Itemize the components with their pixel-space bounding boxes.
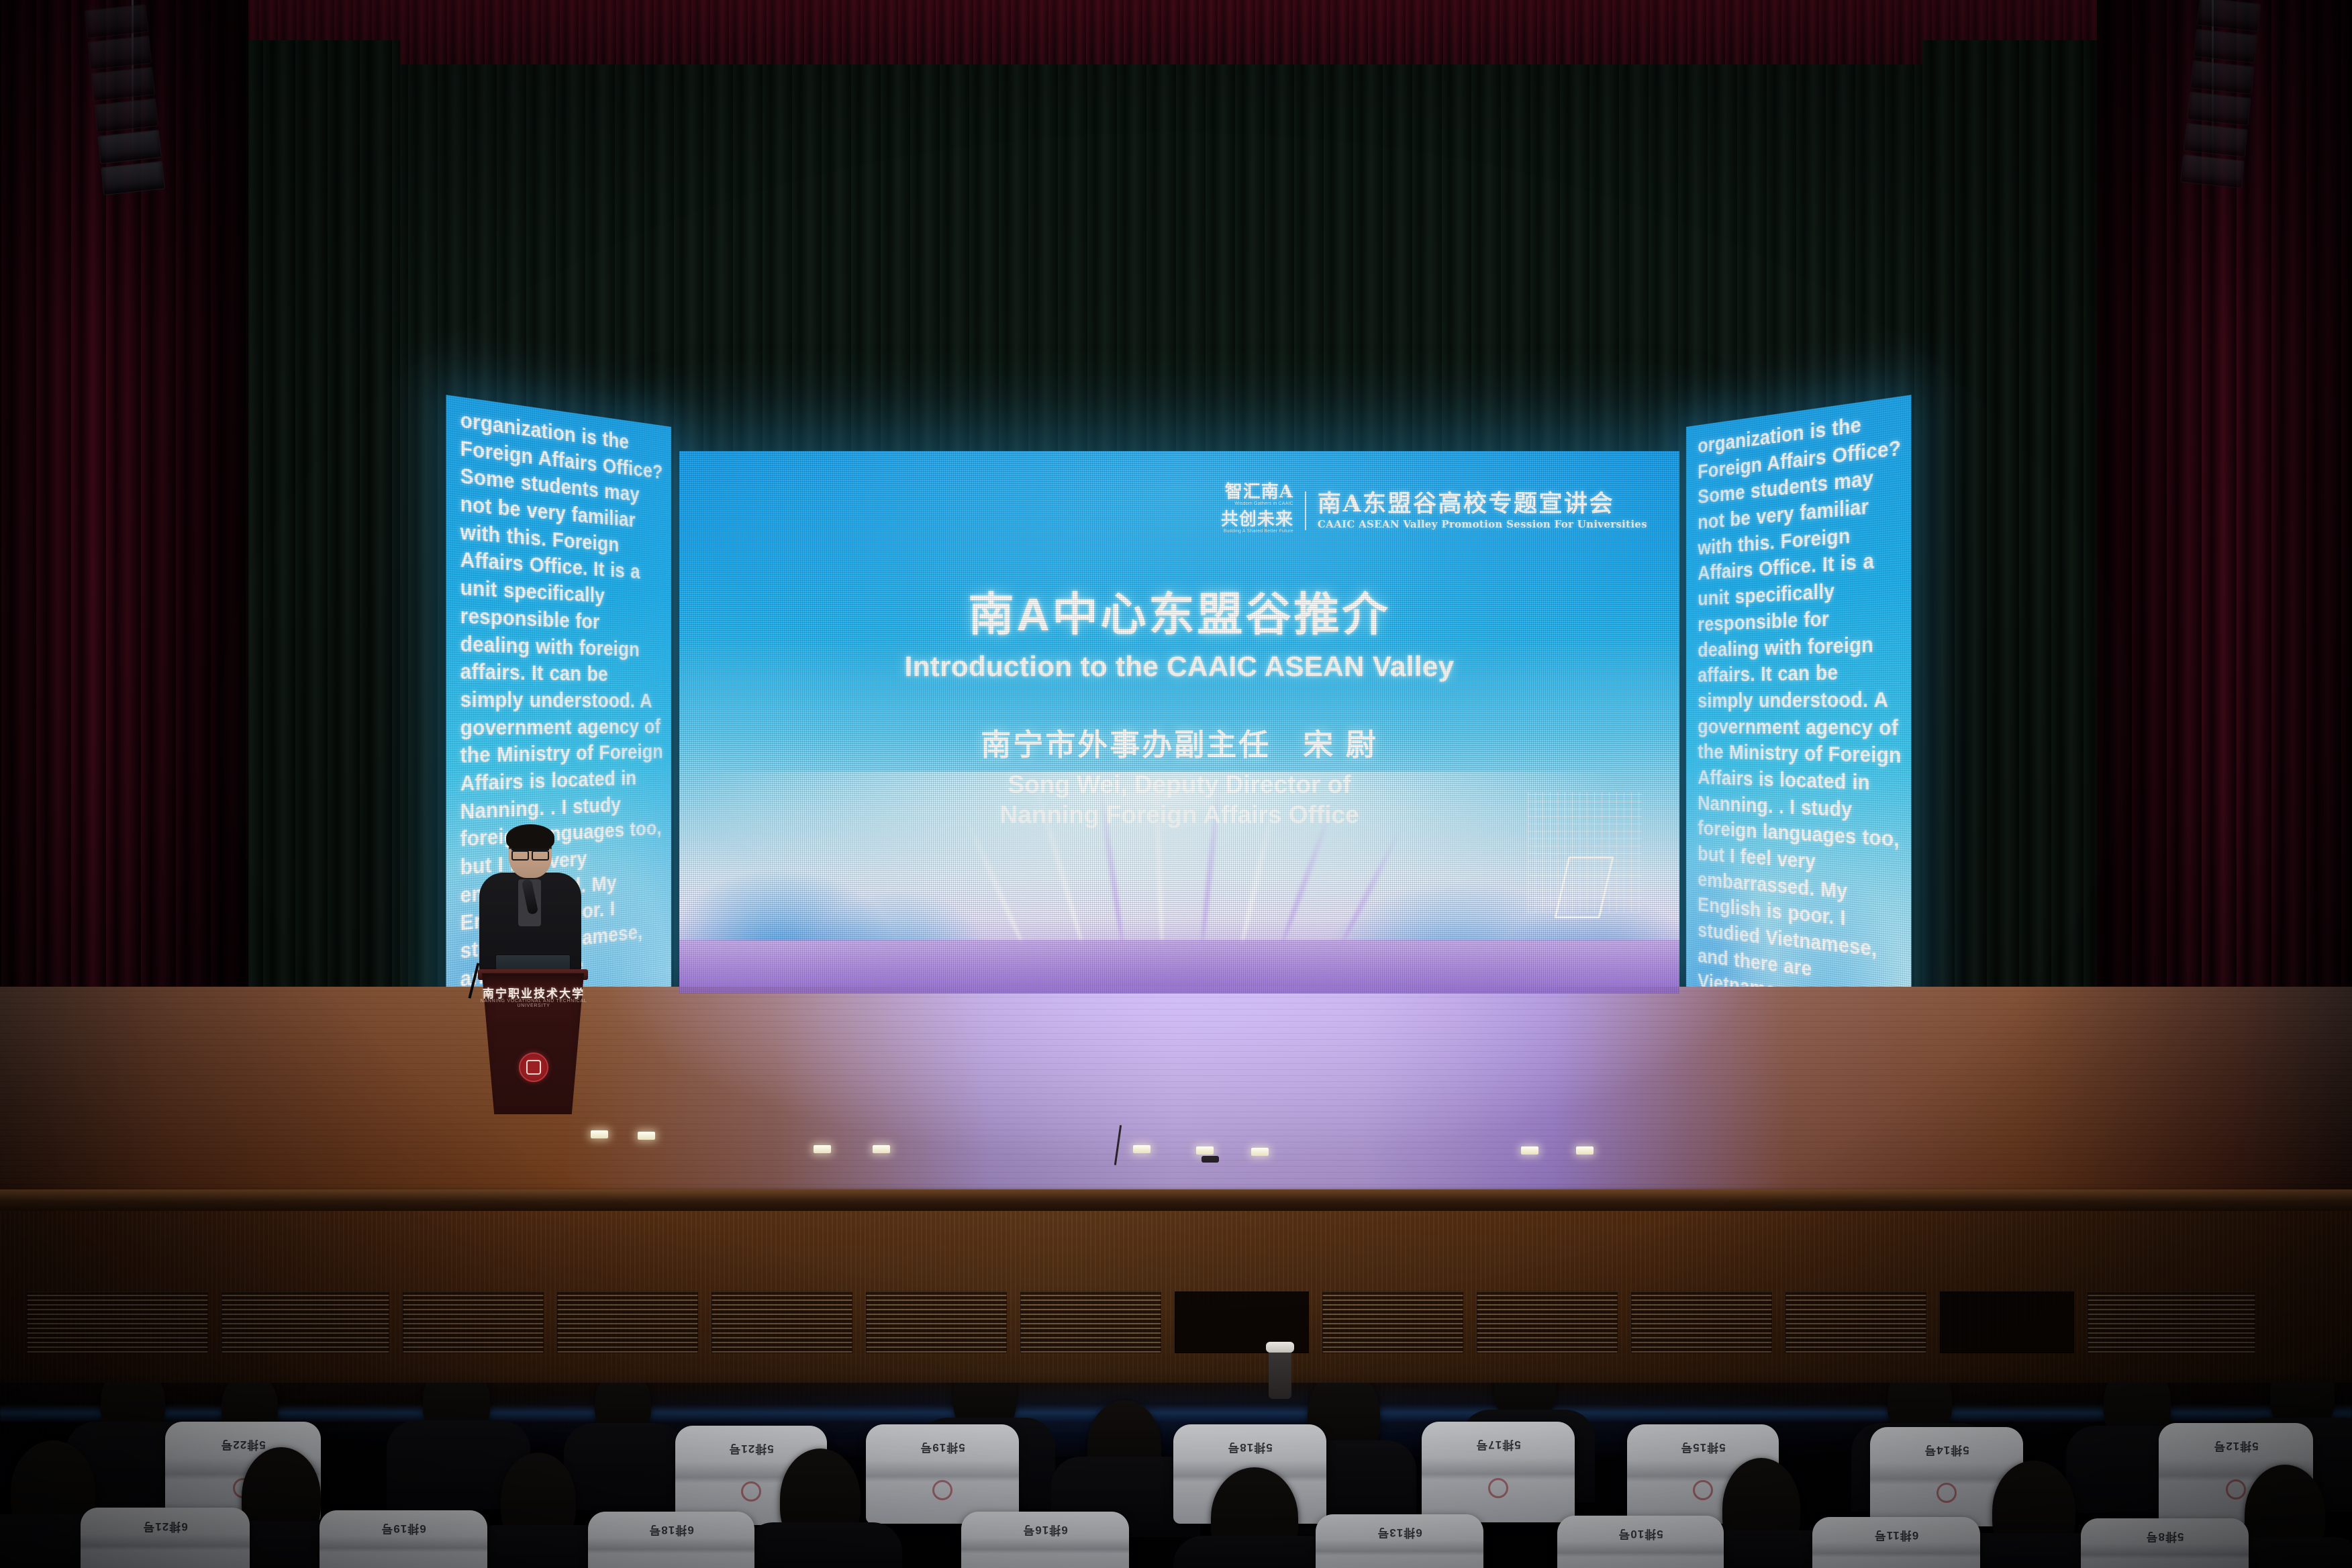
seat[interactable]: 6排18号	[588, 1512, 754, 1568]
logo-line2-cn: 共创未来	[1221, 511, 1293, 528]
seat-label: 5排17号	[1422, 1438, 1575, 1455]
seat[interactable]: 6排21号	[81, 1508, 250, 1568]
floor-light-9	[638, 1132, 655, 1140]
podium-and-speaker: 南宁职业技术大学 NANNING VOCATIONAL AND TECHNICA…	[470, 831, 597, 1113]
floor-light-6	[1521, 1146, 1538, 1155]
slide-header: 智汇南A Wisdom Gathers in CAAIC 共创未来 Buildi…	[1221, 483, 1647, 538]
seat[interactable]: 5排19号	[866, 1424, 1019, 1524]
floor-light-2	[873, 1145, 890, 1153]
event-title-cn: 南A东盟谷高校专题宣讲会	[1318, 491, 1647, 517]
seat-label: 6排19号	[320, 1522, 487, 1538]
seat-label: 5排15号	[1627, 1440, 1779, 1457]
floor-light-7	[1576, 1146, 1594, 1155]
slide-speaker-cn: 南宁市外事办副主任 宋 尉	[679, 720, 1679, 764]
seat-crest-icon	[1937, 1483, 1957, 1503]
slide-title-en: Introduction to the CAAIC ASEAN Valley	[679, 650, 1679, 683]
seat-label: 5排12号	[2159, 1439, 2313, 1456]
seat[interactable]: 6排16号	[961, 1512, 1129, 1568]
floor-light-8	[591, 1130, 608, 1138]
floor-light-4	[1196, 1146, 1214, 1155]
seat-label: 6排21号	[81, 1520, 250, 1536]
podium-institution-en: NANNING VOCATIONAL AND TECHNICAL UNIVERS…	[470, 999, 597, 1008]
seat-label: 5排18号	[1173, 1440, 1326, 1457]
stage-floor-object	[1202, 1156, 1219, 1163]
logo-line1-en: Wisdom Gathers in CAAIC	[1221, 501, 1293, 507]
event-logo: 智汇南A Wisdom Gathers in CAAIC 共创未来 Buildi…	[1221, 483, 1293, 538]
floor-light-1	[814, 1145, 831, 1153]
led-side-panel-right: organization is the Foreign Affairs Offi…	[1686, 395, 1912, 1030]
seat[interactable]: 6排13号	[1316, 1514, 1483, 1568]
graphic-floor-band	[679, 940, 1679, 993]
seat-label: 5排8号	[2081, 1530, 2249, 1547]
seat-label: 5排10号	[1557, 1527, 1724, 1544]
stage-floor-planks	[0, 987, 2352, 1203]
logo-line2-en: Building A Shared Better Future	[1221, 528, 1293, 535]
floor-light-5	[1251, 1148, 1269, 1156]
seat-crest-icon	[2226, 1479, 2246, 1500]
seat[interactable]: 5排8号	[2081, 1518, 2249, 1568]
seat-label: 6排13号	[1316, 1526, 1483, 1542]
speaker-hair	[506, 824, 554, 851]
logo-divider	[1305, 491, 1306, 530]
auditorium-scene: organization is the Foreign Affairs Offi…	[0, 0, 2352, 1568]
seat-label: 5排19号	[866, 1440, 1019, 1457]
seat-crest-icon	[932, 1480, 952, 1500]
seat-label: 6排11号	[1812, 1528, 1980, 1545]
speaker-glasses	[511, 848, 549, 856]
seat-label: 6排16号	[961, 1523, 1129, 1540]
seat[interactable]: 6排19号	[320, 1510, 487, 1568]
coffee-cup	[1269, 1349, 1291, 1399]
stage-floor	[0, 987, 2352, 1203]
seat[interactable]: 5排17号	[1422, 1422, 1575, 1522]
live-caption-right: organization is the Foreign Affairs Offi…	[1698, 407, 1902, 1031]
seat-label: 5排14号	[1870, 1443, 2023, 1460]
logo-line1-cn: 智汇南A	[1221, 483, 1293, 501]
seat-crest-icon	[741, 1481, 761, 1502]
seat[interactable]: 5排10号	[1557, 1516, 1724, 1568]
stage-apron-lip	[0, 1189, 2352, 1214]
seat-label: 6排18号	[588, 1523, 754, 1540]
seat-crest-icon	[1693, 1480, 1713, 1500]
event-title-en: CAAIC ASEAN Valley Promotion Session For…	[1318, 518, 1647, 530]
floor-light-3	[1133, 1145, 1150, 1153]
led-main-screen: 智汇南A Wisdom Gathers in CAAIC 共创未来 Buildi…	[679, 451, 1679, 993]
seat-crest-icon	[1488, 1478, 1508, 1498]
event-title-block: 南A东盟谷高校专题宣讲会 CAAIC ASEAN Valley Promotio…	[1318, 491, 1647, 530]
university-emblem-icon	[519, 1052, 548, 1082]
slide-speaker-en-line2: Nanning Foreign Affairs Office	[679, 799, 1679, 830]
slide-speaker-en-line1: Song Wei, Deputy Director of	[679, 769, 1679, 799]
slide-title-cn: 南A中心东盟谷推介	[679, 577, 1679, 644]
seat[interactable]: 6排11号	[1812, 1517, 1980, 1568]
audience-seating: 5排22号 5排21号 5排19号 5排18号 5排17号 5排15号 5排14…	[0, 1383, 2352, 1568]
slide-body: 南A中心东盟谷推介 Introduction to the CAAIC ASEA…	[679, 577, 1679, 830]
